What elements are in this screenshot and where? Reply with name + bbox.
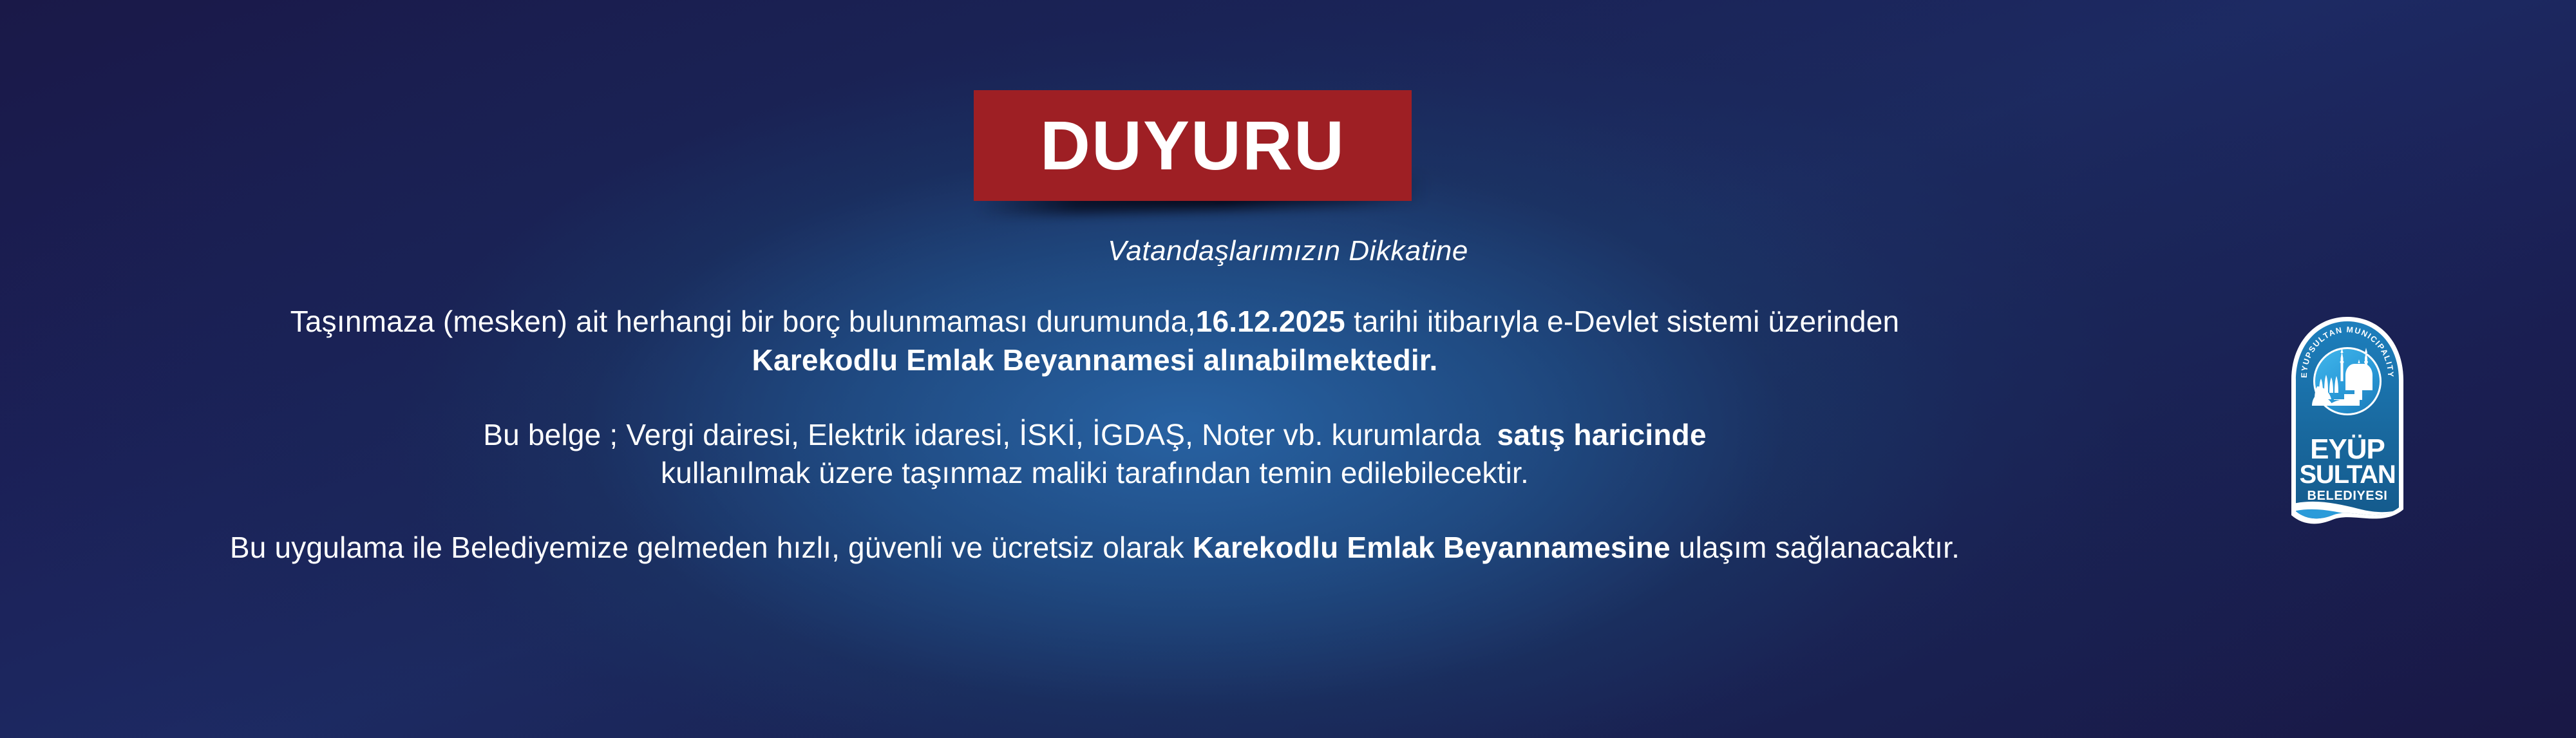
p3-text-b: ulaşım sağlanacaktır. (1671, 531, 1960, 564)
p2-line1-text: Bu belge ; Vergi dairesi, Elektrik idare… (483, 418, 1489, 451)
p1-effective-date: 16.12.2025 (1196, 305, 1345, 338)
announcement-body: Taşınmaza (mesken) ait herhangi bir borç… (0, 303, 2190, 567)
subtitle: Vatandaşlarımızın Dikkatine (0, 235, 2576, 267)
p1-line1-text-a: Taşınmaza (mesken) ait herhangi bir borç… (290, 305, 1196, 338)
p1-line1-text-b: tarihi itibarıyla e-Devlet sistemi üzeri… (1345, 305, 1899, 338)
p1-line2-bold: Karekodlu Emlak Beyannamesi alınabilmekt… (752, 343, 1438, 377)
banner-red-box: DUYURU (974, 90, 1412, 201)
logo-svg: EYUPSULTAN MUNICIPALITY (2287, 314, 2407, 532)
paragraph-1: Taşınmaza (mesken) ait herhangi bir borç… (0, 303, 2190, 380)
paragraph-3: Bu uygulama ile Belediyemize gelmeden hı… (0, 529, 2190, 567)
banner-title: DUYURU (1040, 111, 1345, 180)
logo-text-sultan: SULTAN (2299, 460, 2395, 489)
duyuru-banner: DUYURU (974, 90, 1412, 201)
p2-line2-text: kullanılmak üzere taşınmaz maliki tarafı… (661, 456, 1529, 489)
p3-text-a: Bu uygulama ile Belediyemize gelmeden hı… (230, 531, 1193, 564)
p2-highlight-satis-haricinde: satış haricinde (1497, 418, 1707, 451)
eyupsultan-belediyesi-logo: EYUPSULTAN MUNICIPALITY (2287, 314, 2407, 532)
p3-highlight-karekodlu-beyanname: Karekodlu Emlak Beyannamesine (1193, 531, 1671, 564)
logo-text-belediyesi: BELEDIYESI (2307, 489, 2388, 503)
announcement-poster: DUYURU Vatandaşlarımızın Dikkatine Taşın… (0, 0, 2576, 738)
paragraph-2: Bu belge ; Vergi dairesi, Elektrik idare… (0, 416, 2190, 493)
